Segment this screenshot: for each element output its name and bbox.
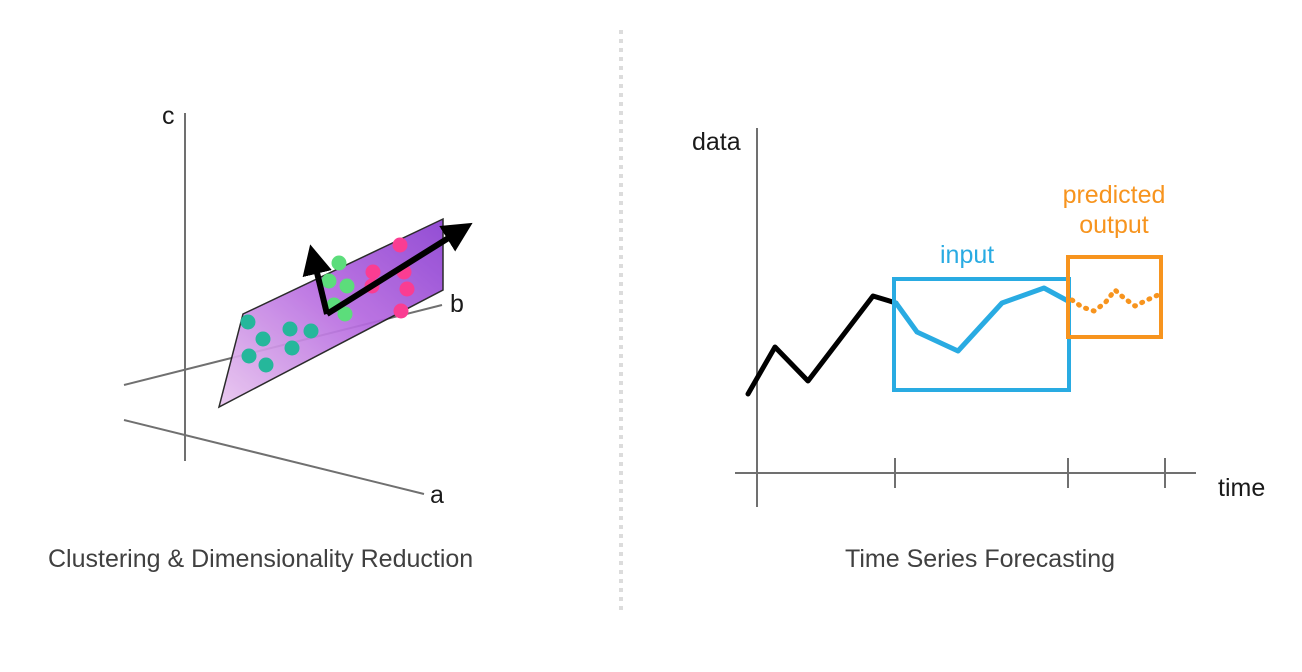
divider-dot: [619, 471, 623, 475]
divider-dot: [619, 219, 623, 223]
divider-dot: [619, 588, 623, 592]
historical-data-line: [748, 296, 896, 394]
divider-dot: [619, 273, 623, 277]
green-cluster-point: [340, 279, 355, 294]
divider-dot: [619, 147, 623, 151]
divider-dot: [619, 381, 623, 385]
divider-dot: [619, 435, 623, 439]
divider-dot: [619, 93, 623, 97]
predicted-output-line: [1072, 290, 1158, 311]
divider-dot: [619, 399, 623, 403]
divider-dot: [619, 120, 623, 124]
divider-dot: [619, 498, 623, 502]
pink-cluster-point: [394, 304, 409, 319]
divider-dot: [619, 534, 623, 538]
divider-dot: [619, 417, 623, 421]
teal-cluster-point: [285, 341, 300, 356]
divider-dot: [619, 309, 623, 313]
divider-dot: [619, 165, 623, 169]
divider-dot: [619, 192, 623, 196]
divider-dot: [619, 453, 623, 457]
divider-dot: [619, 75, 623, 79]
divider-dot: [619, 606, 623, 610]
axis-label-c: c: [162, 102, 175, 130]
divider-dot: [619, 255, 623, 259]
divider-dot: [619, 372, 623, 376]
divider-dot: [619, 102, 623, 106]
divider-dot: [619, 354, 623, 358]
green-cluster-point: [332, 256, 347, 271]
divider-dot: [619, 39, 623, 43]
chart-y-axis-label: data: [692, 128, 741, 156]
divider-dot: [619, 129, 623, 133]
divider-dot: [619, 516, 623, 520]
divider-dot: [619, 57, 623, 61]
predicted-output-box: [1068, 257, 1161, 337]
right-panel-caption: Time Series Forecasting: [845, 545, 1115, 574]
diagram-canvas: c b a data time input: [0, 0, 1302, 672]
divider-dot: [619, 462, 623, 466]
divider-dot: [619, 561, 623, 565]
teal-cluster-point: [259, 358, 274, 373]
divider-dot: [619, 237, 623, 241]
predicted-output-label-line2: output: [1079, 211, 1149, 239]
teal-cluster-point: [241, 315, 256, 330]
divider-dot: [619, 543, 623, 547]
divider-dot: [619, 201, 623, 205]
left-panel-caption: Clustering & Dimensionality Reduction: [48, 545, 473, 574]
divider-dot: [619, 345, 623, 349]
divider-dot: [619, 264, 623, 268]
divider-dot: [619, 30, 623, 34]
divider-dot: [619, 480, 623, 484]
axis-label-a: a: [430, 481, 444, 509]
divider-dot: [619, 426, 623, 430]
divider-dot: [619, 84, 623, 88]
chart-x-axis-label: time: [1218, 474, 1265, 502]
predicted-output-label-line1: predicted: [1063, 181, 1166, 209]
divider-dot: [619, 300, 623, 304]
green-cluster-point: [322, 274, 337, 289]
teal-cluster-point: [242, 349, 257, 364]
axis-line-a: [124, 420, 424, 494]
input-data-line: [896, 288, 1068, 351]
axis-label-b: b: [450, 290, 464, 318]
divider-dot: [619, 156, 623, 160]
divider-dot: [619, 525, 623, 529]
divider-dot: [619, 183, 623, 187]
divider-dot: [619, 489, 623, 493]
teal-cluster-point: [283, 322, 298, 337]
divider-dot: [619, 552, 623, 556]
pink-cluster-point: [400, 282, 415, 297]
dotted-vertical-divider: [619, 30, 623, 610]
divider-dot: [619, 48, 623, 52]
divider-dot: [619, 597, 623, 601]
teal-cluster-point: [256, 332, 271, 347]
divider-dot: [619, 228, 623, 232]
divider-dot: [619, 579, 623, 583]
input-box-label: input: [940, 241, 994, 269]
teal-cluster-point: [304, 324, 319, 339]
right-panel-chart-axes: data time: [692, 128, 1265, 507]
divider-dot: [619, 390, 623, 394]
divider-dot: [619, 282, 623, 286]
pink-cluster-point: [366, 265, 381, 280]
divider-dot: [619, 507, 623, 511]
divider-dot: [619, 318, 623, 322]
divider-dot: [619, 246, 623, 250]
divider-dot: [619, 363, 623, 367]
divider-dot: [619, 138, 623, 142]
divider-dot: [619, 174, 623, 178]
divider-dot: [619, 111, 623, 115]
divider-dot: [619, 210, 623, 214]
divider-dot: [619, 327, 623, 331]
divider-dot: [619, 408, 623, 412]
pink-cluster-point: [393, 238, 408, 253]
divider-dot: [619, 291, 623, 295]
divider-dot: [619, 336, 623, 340]
divider-dot: [619, 444, 623, 448]
divider-dot: [619, 570, 623, 574]
divider-dot: [619, 66, 623, 70]
